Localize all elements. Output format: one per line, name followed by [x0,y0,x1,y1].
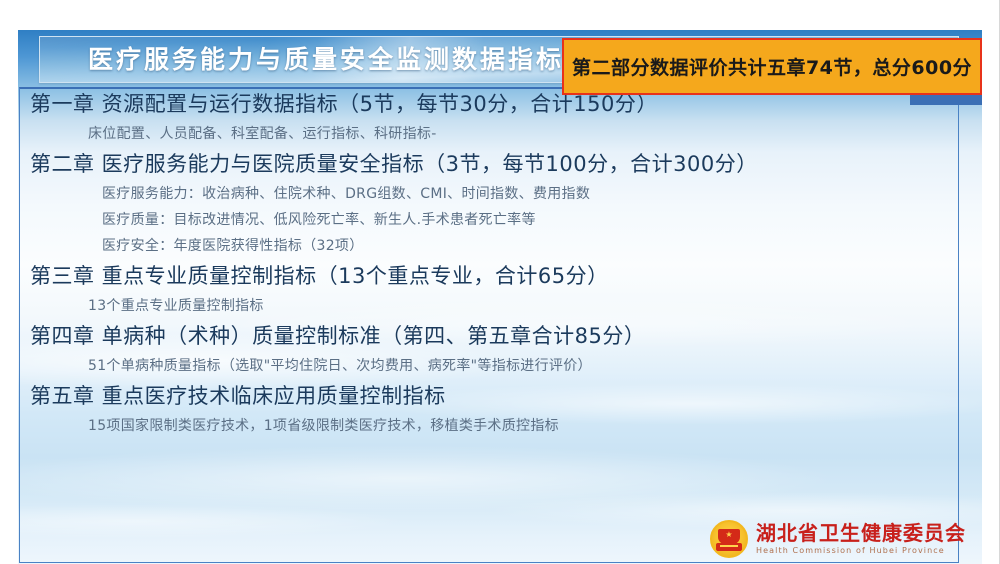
chapter-subitem: 医疗质量：目标改进情况、低风险死亡率、新生人.手术患者死亡率等 [18,207,958,233]
chapter-heading: 第二章 医疗服务能力与医院质量安全指标（3节，每节100分，合计300分） [18,147,958,181]
chapter-heading: 第三章 重点专业质量控制指标（13个重点专业，合计65分） [18,259,958,293]
chapter-subitem: 床位配置、人员配备、科室配备、运行指标、科研指标- [18,121,958,147]
left-edge-rule [0,0,1,564]
organization-logo: ★ 湖北省卫生健康委员会 Health Commission of Hubei … [710,520,966,558]
logo-name-en: Health Commission of Hubei Province [756,547,966,555]
chapter-heading: 第四章 单病种（术种）质量控制标准（第四、第五章合计85分） [18,319,958,353]
chapter-block-5: 第五章 重点医疗技术临床应用质量控制指标 15项国家限制类医疗技术，1项省级限制… [18,379,958,439]
chapter-block-2: 第二章 医疗服务能力与医院质量安全指标（3节，每节100分，合计300分） 医疗… [18,147,958,259]
slide-canvas[interactable]: 医疗服务能力与质量安全监测数据指标 第一章 资源配置与运行数据指标（5节，每节3… [18,30,982,564]
slide-root: 医疗服务能力与质量安全监测数据指标 第一章 资源配置与运行数据指标（5节，每节3… [0,0,1000,564]
chapter-block-1: 第一章 资源配置与运行数据指标（5节，每节30分，合计150分） 床位配置、人员… [18,87,958,147]
chapter-list: 第一章 资源配置与运行数据指标（5节，每节30分，合计150分） 床位配置、人员… [18,87,958,439]
chapter-subitem: 医疗服务能力：收治病种、住院术种、DRG组数、CMI、时间指数、费用指数 [18,181,958,207]
chapter-subitem: 51个单病种质量指标（选取"平均住院日、次均费用、病死率"等指标进行评价） [18,353,958,379]
logo-name-cn: 湖北省卫生健康委员会 [756,523,966,543]
chapter-block-4: 第四章 单病种（术种）质量控制标准（第四、第五章合计85分） 51个单病种质量指… [18,319,958,379]
chapter-subitem: 医疗安全：年度医院获得性指标（32项） [18,233,958,259]
logo-text-group: 湖北省卫生健康委员会 Health Commission of Hubei Pr… [756,523,966,555]
chapter-block-3: 第三章 重点专业质量控制指标（13个重点专业，合计65分） 13个重点专业质量控… [18,259,958,319]
callout-text: 第二部分数据评价共计五章74节，总分600分 [572,53,972,80]
chapter-subitem: 13个重点专业质量控制指标 [18,293,958,319]
chapter-heading: 第五章 重点医疗技术临床应用质量控制指标 [18,379,958,413]
callout-box[interactable]: 第二部分数据评价共计五章74节，总分600分 [562,38,982,95]
national-emblem-icon: ★ [710,520,748,558]
chapter-subitem: 15项国家限制类医疗技术，1项省级限制类医疗技术，移植类手术质控指标 [18,413,958,439]
emblem-star-icon: ★ [725,531,732,539]
emblem-base-line [720,545,738,547]
